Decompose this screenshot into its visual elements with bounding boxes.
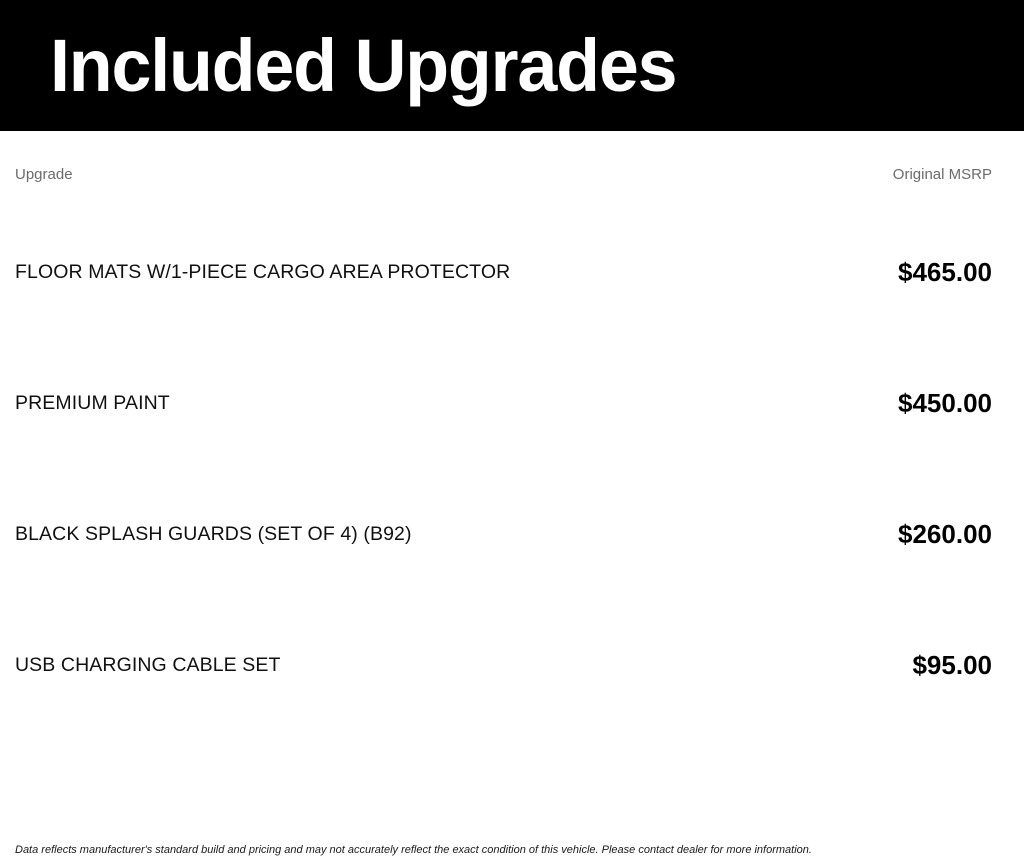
table-row: BLACK SPLASH GUARDS (SET OF 4) (B92) $26… [15, 469, 992, 600]
upgrade-price: $465.00 [878, 257, 992, 288]
upgrades-table: Upgrade Original MSRP FLOOR MATS W/1-PIE… [0, 131, 1024, 768]
page-header-band: Included Upgrades [0, 0, 1024, 131]
column-header-upgrade: Upgrade [15, 166, 73, 183]
page-title: Included Upgrades [50, 29, 676, 103]
upgrade-price: $260.00 [878, 519, 992, 550]
disclaimer-text: Data reflects manufacturer's standard bu… [15, 843, 1009, 857]
upgrades-row-list: FLOOR MATS W/1-PIECE CARGO AREA PROTECTO… [15, 207, 992, 731]
upgrade-price: $95.00 [892, 650, 992, 681]
table-header-row: Upgrade Original MSRP [15, 154, 992, 194]
included-upgrades-page: Included Upgrades Upgrade Original MSRP … [0, 0, 1024, 768]
column-header-original-msrp: Original MSRP [893, 166, 992, 183]
upgrade-name: PREMIUM PAINT [15, 392, 878, 415]
table-row: PREMIUM PAINT $450.00 [15, 338, 992, 469]
upgrade-name: BLACK SPLASH GUARDS (SET OF 4) (B92) [15, 523, 878, 546]
upgrade-name: FLOOR MATS W/1-PIECE CARGO AREA PROTECTO… [15, 261, 878, 284]
upgrade-price: $450.00 [878, 388, 992, 419]
table-row: FLOOR MATS W/1-PIECE CARGO AREA PROTECTO… [15, 207, 992, 338]
footer-disclaimer-container: Data reflects manufacturer's standard bu… [15, 843, 1009, 857]
table-row: USB CHARGING CABLE SET $95.00 [15, 600, 992, 731]
upgrade-name: USB CHARGING CABLE SET [15, 654, 892, 677]
